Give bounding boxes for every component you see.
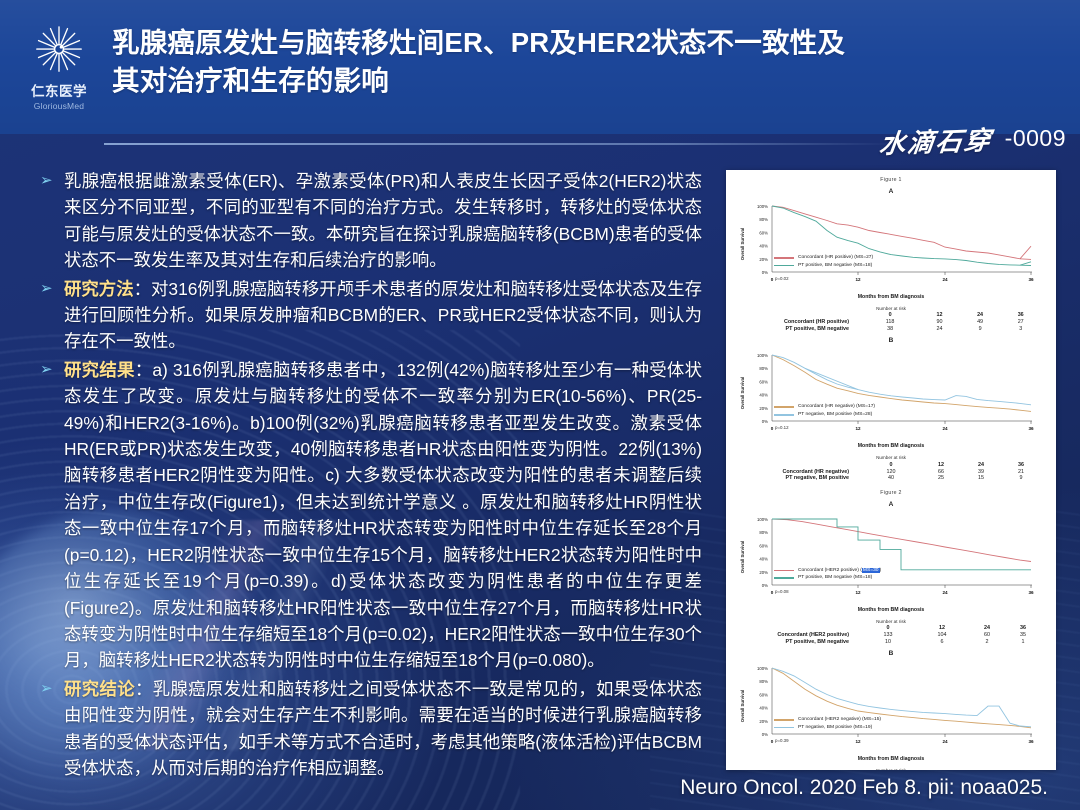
xlabel-fig1-b: Months from BM diagnosis <box>732 443 1050 449</box>
svg-text:0: 0 <box>771 590 774 595</box>
pvalue-fig2-a: p=0.08 <box>775 589 789 594</box>
legend-swatch-icon <box>774 406 794 408</box>
risk-header-blank <box>741 625 861 632</box>
bullet-keyword-3: 研究结论 <box>64 679 135 699</box>
series-line-concordant-hr-positive <box>772 206 1031 259</box>
figure-panel: Figure 1 A 100% 80% 60% 40% 20% 0% Overa… <box>726 170 1056 770</box>
risk-header-36: 36 <box>1000 312 1041 319</box>
svg-text:12: 12 <box>855 277 861 282</box>
risk-cell: 3 <box>1000 326 1041 333</box>
xlabel-fig2-a: Months from BM diagnosis <box>732 607 1050 613</box>
risk-cell: 6 <box>915 638 969 645</box>
svg-text:Overall Survival: Overall Survival <box>740 377 745 410</box>
legend-swatch-icon <box>774 570 794 572</box>
bullet-item-2: ➢ 研究结果：a) 316例乳腺癌脑转移患者中，132例(42%)脑转移灶至少有… <box>34 357 702 674</box>
risk-cell: 66 <box>921 468 961 475</box>
bullet-text-2: 研究结果：a) 316例乳腺癌脑转移患者中，132例(42%)脑转移灶至少有一种… <box>64 357 702 674</box>
bullet-item-1: ➢ 研究方法：对316例乳腺癌脑转移开颅手术患者的原发灶和脑转移灶受体状态及生存… <box>34 276 702 355</box>
risk-header-row: 0 12 24 36 <box>741 461 1041 468</box>
legend-label-0: Concordant (HR negative) (MS=17) <box>798 403 875 411</box>
risk-header-0: 0 <box>861 461 921 468</box>
legend-entry-0: Concordant (HR positive) (MS=27) <box>774 254 873 262</box>
legend-label-1: PT negative, BM positive (MS=19) <box>798 724 872 732</box>
bullet-arrow-icon: ➢ <box>34 357 64 383</box>
risk-header-36: 36 <box>1001 461 1041 468</box>
axis-fig1-a: 100% 80% 60% 40% 20% 0% Overall Survival… <box>740 204 1034 282</box>
risk-cell: 10 <box>861 638 915 645</box>
bullet-body-2: ：a) 316例乳腺癌脑转移患者中，132例(42%)脑转移灶至少有一种受体状态… <box>64 360 702 670</box>
body-text-column: ➢ 乳腺癌根据雌激素受体(ER)、孕激素受体(PR)和人表皮生长因子受体2(HE… <box>34 168 702 783</box>
svg-text:40%: 40% <box>759 706 768 711</box>
svg-text:20%: 20% <box>759 719 768 724</box>
km-curve-fig1-a: 100% 80% 60% 40% 20% 0% Overall Survival… <box>732 196 1050 292</box>
legend-label-1: PT negative, BM positive (MS=28) <box>798 411 872 419</box>
page-title-line-1: 乳腺癌原发灶与脑转移灶间ER、PR及HER2状态不一致性及 <box>112 24 1040 62</box>
risk-cell: 118 <box>861 319 919 326</box>
svg-text:20%: 20% <box>759 569 768 574</box>
risk-header-blank <box>741 461 861 468</box>
legend-label-1: PT positive, BM negative (MS=18) <box>798 574 872 582</box>
axis-fig2-b: 100% 80% 60% 40% 20% 0% Overall Survival… <box>740 666 1034 744</box>
risk-row-label: PT positive, BM negative <box>741 326 861 333</box>
risk-header-0: 0 <box>861 625 915 632</box>
legend-label-0: Concordant (HER2 positive) (MS=30) <box>798 567 881 575</box>
risk-cell: 24 <box>919 326 960 333</box>
risk-table-row: PT positive, BM negative 38 24 9 3 <box>741 326 1041 333</box>
svg-text:80%: 80% <box>759 530 768 535</box>
svg-text:40%: 40% <box>759 244 768 249</box>
svg-text:Overall Survival: Overall Survival <box>740 228 745 261</box>
bullet-arrow-icon: ➢ <box>34 676 64 702</box>
svg-text:0%: 0% <box>762 270 768 275</box>
axis-fig2-a: 100% 80% 60% 40% 20% 0% Overall Survival… <box>740 517 1034 595</box>
svg-text:0: 0 <box>771 426 774 431</box>
risk-header-24: 24 <box>969 625 1005 632</box>
risk-table-row: Concordant (HR negative) 120 66 39 21 <box>741 468 1041 475</box>
svg-text:36: 36 <box>1028 739 1034 744</box>
bullet-arrow-icon: ➢ <box>34 276 64 302</box>
risk-title-fig1-b: Number at risk <box>732 455 1050 460</box>
legend-swatch-icon <box>774 727 794 729</box>
watermark-calligraphy: 水滴石穿 <box>877 120 994 161</box>
legend-swatch-icon <box>774 265 794 267</box>
risk-table-fig1-b: 0 12 24 36 Concordant (HR negative) 120 … <box>741 461 1041 481</box>
bullet-body-1: ：对316例乳腺癌脑转移开颅手术患者的原发灶和脑转移灶受体状态及生存进行回顾性分… <box>64 279 702 352</box>
legend-label-0: Concordant (HER2 negative) (MS=15) <box>798 716 881 724</box>
svg-text:12: 12 <box>855 590 861 595</box>
slide-root: 仁东医学 GloriousMed 乳腺癌原发灶与脑转移灶间ER、PR及HER2状… <box>0 0 1080 810</box>
xlabel-fig1-a: Months from BM diagnosis <box>732 294 1050 300</box>
bullet-text-1: 研究方法：对316例乳腺癌脑转移开颅手术患者的原发灶和脑转移灶受体状态及生存进行… <box>64 276 702 355</box>
slide-number: -0009 <box>1005 125 1066 152</box>
risk-cell: 133 <box>861 631 915 638</box>
svg-text:Overall Survival: Overall Survival <box>740 540 745 573</box>
header-divider-rule <box>104 143 894 145</box>
figure-1-title: Figure 1 <box>732 177 1050 183</box>
legend-highlight-ms: MS=30 <box>862 568 880 573</box>
pvalue-fig2-b: p=0.39 <box>775 738 789 743</box>
svg-text:Overall Survival: Overall Survival <box>740 690 745 723</box>
svg-text:12: 12 <box>855 739 861 744</box>
svg-text:12: 12 <box>855 426 861 431</box>
risk-header-36: 36 <box>1005 625 1041 632</box>
risk-cell: 90 <box>919 319 960 326</box>
svg-text:24: 24 <box>942 739 948 744</box>
risk-title-fig2-a: Number at risk <box>732 619 1050 624</box>
risk-table-row: PT positive, BM negative 10 6 2 1 <box>741 638 1041 645</box>
xlabel-fig2-b: Months from BM diagnosis <box>732 756 1050 762</box>
svg-text:0: 0 <box>771 739 774 744</box>
series-line-pt-negative-bm-positive <box>772 355 1031 405</box>
watermark-band: 水滴石穿 -0009 <box>0 134 1080 170</box>
bullet-keyword-1: 研究方法 <box>64 279 134 299</box>
risk-table-row: Concordant (HER2 positive) 133 104 60 35 <box>741 631 1041 638</box>
legend-fig1-b: Concordant (HR negative) (MS=17) PT nega… <box>774 403 875 418</box>
figure-2-title: Figure 2 <box>732 490 1050 496</box>
svg-text:60%: 60% <box>759 380 768 385</box>
legend-swatch-icon <box>774 414 794 416</box>
risk-row-label: Concordant (HR negative) <box>741 468 861 475</box>
risk-cell: 21 <box>1001 468 1041 475</box>
series-line-concordant-her2-positive <box>772 519 1031 562</box>
logo-chinese-name: 仁东医学 <box>31 80 87 100</box>
risk-cell: 9 <box>1001 475 1041 482</box>
brand-logo: 仁东医学 GloriousMed <box>22 24 96 118</box>
km-curve-fig2-b: 100% 80% 60% 40% 20% 0% Overall Survival… <box>732 658 1050 754</box>
legend-swatch-icon <box>774 257 794 259</box>
svg-text:80%: 80% <box>759 679 768 684</box>
svg-text:100%: 100% <box>757 353 768 358</box>
citation-text: Neuro Oncol. 2020 Feb 8. pii: noaa025. <box>0 776 1064 800</box>
svg-text:0: 0 <box>771 277 774 282</box>
risk-cell: 25 <box>921 475 961 482</box>
risk-cell: 1 <box>1005 638 1041 645</box>
bullet-text-3: 研究结论：乳腺癌原发灶和脑转移灶之间受体状态不一致是常见的，如果受体状态由阳性变… <box>64 676 702 782</box>
risk-title-fig2-b: Number at risk <box>732 768 1050 770</box>
legend-swatch-icon <box>774 719 794 721</box>
svg-text:24: 24 <box>942 277 948 282</box>
svg-text:36: 36 <box>1028 426 1034 431</box>
legend-label-0: Concordant (HR positive) (MS=27) <box>798 254 873 262</box>
km-curve-fig1-b: 100% 80% 60% 40% 20% 0% Overall Survival… <box>732 345 1050 441</box>
legend-entry-1: PT negative, BM positive (MS=28) <box>774 411 875 419</box>
pvalue-fig1-b: p=0.12 <box>775 425 789 430</box>
bullet-body-0: 乳腺癌根据雌激素受体(ER)、孕激素受体(PR)和人表皮生长因子受体2(HER2… <box>64 171 702 270</box>
legend-fig1-a: Concordant (HR positive) (MS=27) PT posi… <box>774 254 873 269</box>
svg-text:0%: 0% <box>762 732 768 737</box>
risk-header-row: 0 12 24 36 <box>741 312 1041 319</box>
risk-cell: 39 <box>961 468 1001 475</box>
svg-text:24: 24 <box>942 426 948 431</box>
svg-text:100%: 100% <box>757 204 768 209</box>
risk-table-fig1-a: 0 12 24 36 Concordant (HR positive) 118 … <box>741 312 1041 332</box>
bullet-body-3: ：乳腺癌原发灶和脑转移灶之间受体状态不一致是常见的，如果受体状态由阳性变为阴性，… <box>64 679 702 778</box>
svg-text:40%: 40% <box>759 556 768 561</box>
legend-entry-1: PT positive, BM negative (MS=18) <box>774 262 873 270</box>
page-title: 乳腺癌原发灶与脑转移灶间ER、PR及HER2状态不一致性及 其对治疗和生存的影响 <box>112 24 1040 100</box>
risk-cell: 27 <box>1000 319 1041 326</box>
risk-cell: 9 <box>960 326 1001 333</box>
risk-table-row: PT negative, BM positive 40 25 15 9 <box>741 475 1041 482</box>
risk-cell: 60 <box>969 631 1005 638</box>
risk-table-fig2-a: 0 12 24 36 Concordant (HER2 positive) 13… <box>741 625 1041 645</box>
svg-text:36: 36 <box>1028 277 1034 282</box>
risk-cell: 40 <box>861 475 921 482</box>
bullet-keyword-2: 研究结果 <box>64 360 135 380</box>
page-title-line-2: 其对治疗和生存的影响 <box>112 62 1040 100</box>
legend-label-1: PT positive, BM negative (MS=18) <box>798 262 872 270</box>
risk-cell: 15 <box>961 475 1001 482</box>
risk-row-label: Concordant (HER2 positive) <box>741 631 861 638</box>
svg-text:80%: 80% <box>759 367 768 372</box>
logo-english-name: GloriousMed <box>34 101 84 111</box>
svg-text:20%: 20% <box>759 406 768 411</box>
svg-text:0%: 0% <box>762 583 768 588</box>
risk-row-label: Concordant (HR positive) <box>741 319 861 326</box>
legend-entry-0: Concordant (HER2 negative) (MS=15) <box>774 716 881 724</box>
legend-entry-1: PT positive, BM negative (MS=18) <box>774 574 881 582</box>
bullet-arrow-icon: ➢ <box>34 168 64 194</box>
km-curve-fig2-a: 100% 80% 60% 40% 20% 0% Overall Survival… <box>732 509 1050 605</box>
figure-2-panel-a-letter: A <box>732 501 1050 508</box>
pvalue-fig1-a: p=0.02 <box>775 276 789 281</box>
svg-text:40%: 40% <box>759 393 768 398</box>
legend-entry-1: PT negative, BM positive (MS=19) <box>774 724 881 732</box>
svg-text:80%: 80% <box>759 217 768 222</box>
legend-entry-0: Concordant (HR negative) (MS=17) <box>774 403 875 411</box>
axis-fig1-b: 100% 80% 60% 40% 20% 0% Overall Survival… <box>740 353 1034 431</box>
starburst-icon <box>30 24 88 78</box>
bullet-item-3: ➢ 研究结论：乳腺癌原发灶和脑转移灶之间受体状态不一致是常见的，如果受体状态由阳… <box>34 676 702 782</box>
risk-title-fig1-a: Number at risk <box>732 306 1050 311</box>
risk-cell: 35 <box>1005 631 1041 638</box>
svg-text:60%: 60% <box>759 230 768 235</box>
risk-header-row: 0 12 24 36 <box>741 625 1041 632</box>
risk-row-label: PT negative, BM positive <box>741 475 861 482</box>
risk-header-24: 24 <box>961 461 1001 468</box>
svg-text:100%: 100% <box>757 666 768 671</box>
risk-header-12: 12 <box>919 312 960 319</box>
svg-text:24: 24 <box>942 590 948 595</box>
legend-swatch-icon <box>774 577 794 579</box>
risk-row-label: PT positive, BM negative <box>741 638 861 645</box>
risk-header-24: 24 <box>960 312 1001 319</box>
svg-text:0%: 0% <box>762 419 768 424</box>
risk-cell: 38 <box>861 326 919 333</box>
figure-1-panel-a-letter: A <box>732 188 1050 195</box>
bullet-item-0: ➢ 乳腺癌根据雌激素受体(ER)、孕激素受体(PR)和人表皮生长因子受体2(HE… <box>34 168 702 274</box>
svg-text:60%: 60% <box>759 543 768 548</box>
legend-fig2-b: Concordant (HER2 negative) (MS=15) PT ne… <box>774 716 881 731</box>
series-line-pt-positive-bm-negative <box>772 519 1031 570</box>
legend-fig2-a: Concordant (HER2 positive) (MS=30) PT po… <box>774 567 881 582</box>
risk-cell: 104 <box>915 631 969 638</box>
figure-1-panel-b-letter: B <box>732 337 1050 344</box>
legend-entry-0: Concordant (HER2 positive) (MS=30) <box>774 567 881 575</box>
risk-header-12: 12 <box>921 461 961 468</box>
risk-header-0: 0 <box>861 312 919 319</box>
svg-text:20%: 20% <box>759 257 768 262</box>
svg-text:60%: 60% <box>759 692 768 697</box>
risk-table-row: Concordant (HR positive) 118 90 49 27 <box>741 319 1041 326</box>
slide-header: 仁东医学 GloriousMed 乳腺癌原发灶与脑转移灶间ER、PR及HER2状… <box>0 0 1080 134</box>
risk-cell: 49 <box>960 319 1001 326</box>
risk-header-blank <box>741 312 861 319</box>
figure-2-panel-b-letter: B <box>732 650 1050 657</box>
risk-cell: 120 <box>861 468 921 475</box>
risk-header-12: 12 <box>915 625 969 632</box>
risk-cell: 2 <box>969 638 1005 645</box>
bullet-text-0: 乳腺癌根据雌激素受体(ER)、孕激素受体(PR)和人表皮生长因子受体2(HER2… <box>64 168 702 274</box>
svg-text:36: 36 <box>1028 590 1034 595</box>
svg-text:100%: 100% <box>757 517 768 522</box>
